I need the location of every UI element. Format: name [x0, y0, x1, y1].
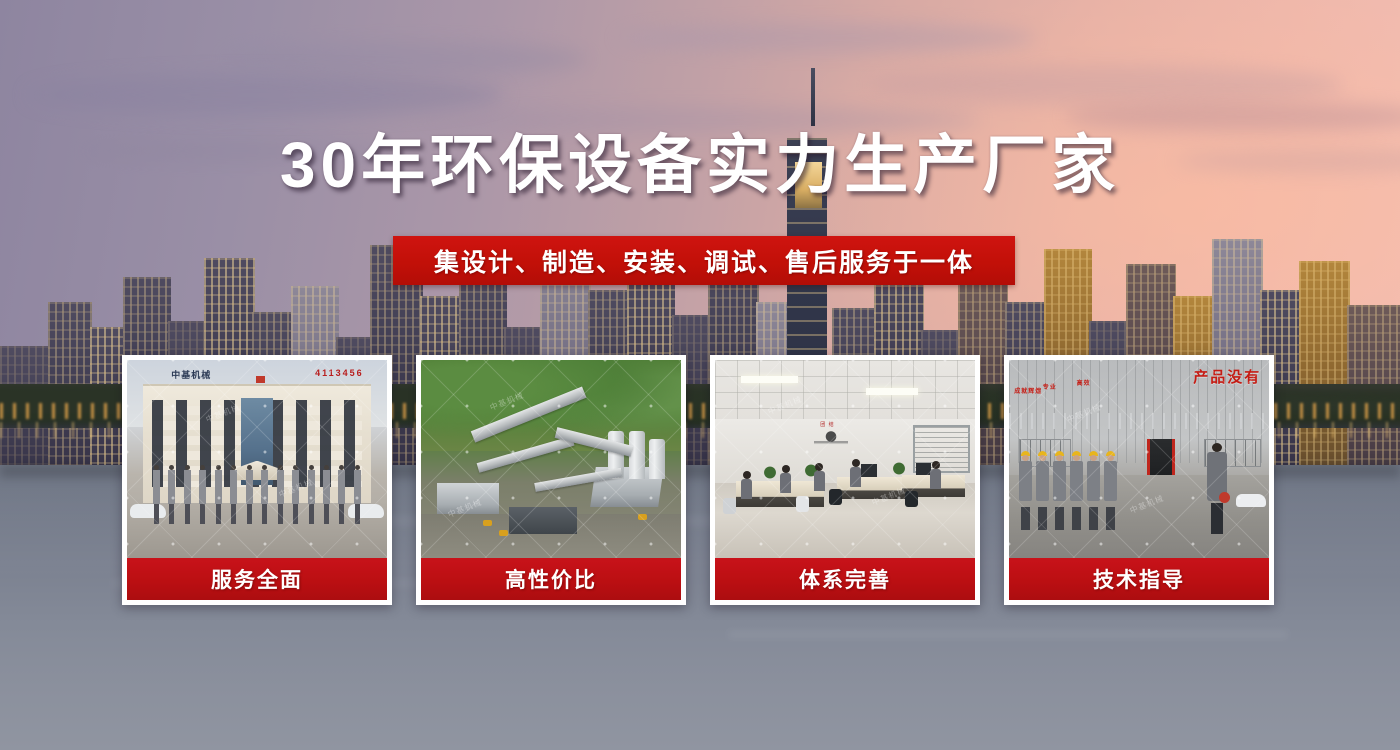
cement-silo	[649, 439, 665, 479]
aerial-production-plant-photo: 中基机械 中基机械	[421, 360, 681, 558]
facade-window-strip	[1009, 413, 1269, 429]
card-label-bar: 技术指导	[1009, 558, 1269, 600]
staff-member	[153, 465, 160, 524]
excavator	[483, 520, 492, 526]
feature-card-service[interactable]: 中基机械 4113456	[122, 355, 392, 605]
staff-lineup	[153, 465, 361, 524]
workers-technical-briefing-photo: 产品没有 成就辉煌 专业 高效 中基机械	[1009, 360, 1269, 558]
ceiling-light	[866, 388, 918, 395]
office-worker	[780, 465, 791, 493]
factory-slogan: 成就辉煌	[1014, 386, 1042, 395]
office-worker	[850, 459, 861, 487]
factory-slogan: 高效	[1077, 378, 1091, 387]
card-label-text: 体系完善	[799, 564, 891, 594]
card-label-text: 服务全面	[211, 564, 303, 594]
card-label-bar: 体系完善	[715, 558, 975, 600]
company-headquarters-photo: 中基机械 4113456	[127, 360, 387, 558]
computer-monitor	[916, 463, 931, 475]
excavator	[638, 514, 647, 520]
parked-car	[1236, 494, 1266, 507]
feature-card-guidance[interactable]: 产品没有 成就辉煌 专业 高效 中基机械	[1004, 355, 1274, 605]
tower-spire	[811, 68, 815, 126]
water-reflection	[728, 630, 1288, 639]
staff-member	[323, 465, 330, 524]
office-worker	[741, 471, 752, 499]
worker	[1036, 451, 1049, 530]
staff-member	[230, 465, 237, 524]
flag	[256, 376, 265, 383]
hero-headline: 30年环保设备实力生产厂家	[0, 132, 1400, 200]
staff-member	[215, 465, 222, 524]
cloud	[868, 65, 1344, 105]
factory-sign: 产品没有	[1193, 366, 1261, 387]
wall-decal-icon	[814, 427, 848, 455]
worker	[1104, 451, 1117, 530]
potted-plant	[891, 462, 907, 475]
plant-shed	[509, 507, 577, 535]
supervisor	[1207, 443, 1227, 534]
worker	[1070, 451, 1083, 530]
staff-member	[246, 465, 253, 524]
staff-member	[199, 465, 206, 524]
excavator	[499, 530, 508, 536]
office-workspace-photo: 团 结 中基机械	[715, 360, 975, 558]
card-label-text: 高性价比	[505, 564, 597, 594]
worker-lineup	[1019, 451, 1128, 530]
worker	[1053, 451, 1066, 530]
staff-member	[261, 465, 268, 524]
staff-member	[168, 465, 175, 524]
plant-hall	[437, 483, 499, 515]
staff-member	[292, 465, 299, 524]
promo-banner: 30年环保设备实力生产厂家 集设计、制造、安装、调试、售后服务于一体 中基机械 …	[0, 0, 1400, 750]
staff-member	[338, 465, 345, 524]
cloud	[224, 42, 588, 76]
building-company-sign: 中基机械	[171, 368, 211, 381]
worker	[1087, 451, 1100, 530]
office-chair	[829, 489, 842, 505]
office-chair	[723, 498, 736, 514]
subtitle-banner: 集设计、制造、安装、调试、售后服务于一体	[393, 236, 1015, 285]
worker	[1019, 451, 1032, 530]
card-label-bar: 服务全面	[127, 558, 387, 600]
office-worker	[814, 463, 825, 491]
cloud	[28, 74, 504, 116]
subtitle-banner-text: 集设计、制造、安装、调试、售后服务于一体	[434, 243, 974, 279]
office-chair	[905, 491, 918, 507]
staff-member	[354, 465, 361, 524]
computer-monitor	[861, 464, 877, 477]
feature-card-system[interactable]: 团 结 中基机械	[710, 355, 980, 605]
staff-member	[308, 465, 315, 524]
card-label-bar: 高性价比	[421, 558, 681, 600]
office-desk	[837, 477, 905, 499]
ceiling-light	[741, 376, 798, 383]
building-phone-sign: 4113456	[315, 368, 364, 378]
cement-silo	[629, 431, 645, 479]
feature-card-value[interactable]: 中基机械 中基机械 高性价比	[416, 355, 686, 605]
feature-card-row: 中基机械 4113456	[122, 355, 1278, 605]
staff-member	[184, 465, 191, 524]
card-label-text: 技术指导	[1093, 564, 1185, 594]
potted-plant	[762, 466, 778, 479]
office-ceiling	[715, 360, 975, 419]
office-worker	[930, 461, 941, 489]
office-chair	[796, 496, 809, 512]
staff-member	[277, 465, 284, 524]
factory-slogan: 专业	[1043, 382, 1057, 391]
